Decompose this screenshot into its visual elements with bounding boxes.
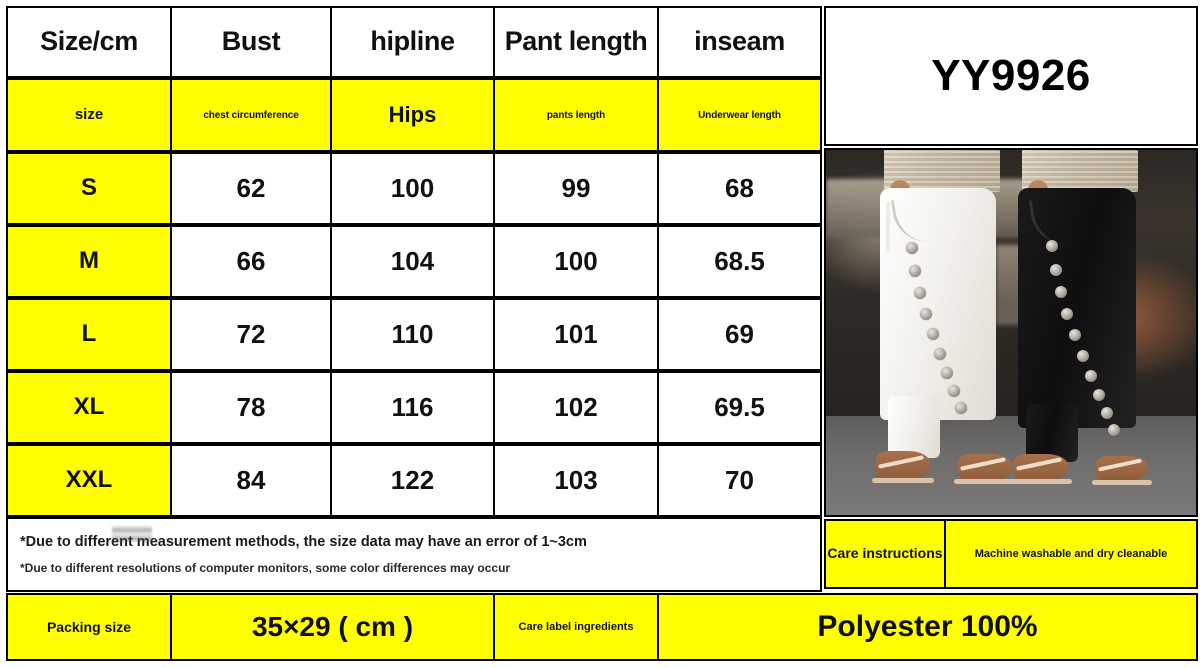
pants-button — [1108, 424, 1120, 436]
measurement-disclaimer: *Due to different measurement methods, t… — [6, 517, 822, 592]
cell-value: 100 — [554, 247, 597, 276]
pants-button — [1085, 370, 1097, 382]
table-row-pant-length: 101 — [493, 298, 659, 371]
table-row-size: XXL — [6, 444, 172, 517]
header-label: inseam — [694, 27, 785, 57]
cell-value: 66 — [237, 247, 266, 276]
pants-button — [906, 242, 918, 254]
pants-button — [948, 385, 960, 397]
subheader-label: size — [75, 107, 103, 124]
header-label: Size/cm — [40, 27, 138, 57]
cell-value: 99 — [562, 174, 591, 203]
cell-value: 78 — [237, 393, 266, 422]
care-label-ingredients-label: Care label ingredients — [493, 593, 659, 661]
table-row-bust: 72 — [170, 298, 332, 371]
model-white-pants — [870, 148, 1010, 515]
care-label-ingredients-value: Polyester 100% — [657, 593, 1198, 661]
header-cell-bust: Bust — [170, 6, 332, 78]
pants-drawstring-white — [886, 202, 890, 252]
ingredients-label-text: Care label ingredients — [519, 621, 634, 633]
product-code-cell: YY9926 — [824, 6, 1198, 146]
pants-button — [1077, 350, 1089, 362]
cell-value: 103 — [554, 466, 597, 495]
header-cell-inseam: inseam — [657, 6, 822, 78]
table-row-inseam: 68.5 — [657, 225, 822, 298]
pants-button — [927, 328, 939, 340]
header-cell-pant-length: Pant length — [493, 6, 659, 78]
pants-button — [1101, 407, 1113, 419]
pants-button — [914, 287, 926, 299]
cell-value: 100 — [391, 174, 434, 203]
pants-button — [1055, 286, 1067, 298]
pants-button — [1093, 389, 1105, 401]
sandal-sole — [872, 478, 934, 483]
cell-value: 110 — [392, 320, 434, 349]
pants-button — [934, 348, 946, 360]
cell-value: 72 — [237, 320, 266, 349]
cell-value: L — [82, 321, 97, 347]
cell-value: 104 — [391, 247, 434, 276]
table-row-size: XL — [6, 371, 172, 444]
product-photo — [824, 148, 1198, 517]
header-label: Bust — [222, 27, 280, 57]
pants-button — [1061, 308, 1073, 320]
table-row-pant-length: 100 — [493, 225, 659, 298]
packing-label-text: Packing size — [47, 619, 131, 635]
table-row-hipline: 116 — [330, 371, 495, 444]
pants-button — [941, 367, 953, 379]
care-value-text: Machine washable and dry cleanable — [975, 548, 1168, 560]
pants-button — [1046, 240, 1058, 252]
table-row-inseam: 68 — [657, 152, 822, 225]
cell-value: 69.5 — [714, 393, 765, 422]
subheader-label: Hips — [389, 103, 437, 127]
care-label-text: Care instructions — [827, 546, 942, 561]
subheader-cell-pant-length: pants length — [493, 78, 659, 152]
cell-value: 116 — [392, 393, 434, 422]
table-row-hipline: 100 — [330, 152, 495, 225]
cell-value: S — [81, 175, 97, 201]
table-row-size: M — [6, 225, 172, 298]
table-row-bust: 84 — [170, 444, 332, 517]
disclaimer-line-2: *Due to different resolutions of compute… — [20, 561, 810, 575]
pants-black — [1018, 188, 1136, 428]
table-row-pant-length: 99 — [493, 152, 659, 225]
table-row-size: S — [6, 152, 172, 225]
table-row-inseam: 70 — [657, 444, 822, 517]
subheader-label: Underwear length — [698, 110, 781, 121]
pants-button — [955, 402, 967, 414]
table-row-hipline: 122 — [330, 444, 495, 517]
cell-value: 84 — [237, 466, 266, 495]
packing-size-label: Packing size — [6, 593, 172, 661]
cell-value: 62 — [237, 174, 266, 203]
cell-value: XL — [74, 394, 105, 420]
model-black-pants — [1004, 148, 1152, 515]
pants-button — [1069, 329, 1081, 341]
ingredients-value-text: Polyester 100% — [817, 610, 1037, 644]
table-row-pant-length: 103 — [493, 444, 659, 517]
table-row-bust: 78 — [170, 371, 332, 444]
care-instructions-label: Care instructions — [824, 519, 946, 589]
pants-button-row-white — [906, 242, 920, 402]
header-label: Pant length — [505, 27, 648, 57]
header-cell-hipline: hipline — [330, 6, 495, 78]
size-chart-sheet: Size/cm Bust hipline Pant length inseam … — [0, 0, 1204, 668]
pants-button — [909, 265, 921, 277]
pants-pocket-white — [891, 196, 932, 247]
pants-leg-white — [888, 396, 940, 458]
table-row-bust: 66 — [170, 225, 332, 298]
header-cell-size: Size/cm — [6, 6, 172, 78]
pants-button — [1050, 264, 1062, 276]
subheader-cell-size: size — [6, 78, 172, 152]
subheader-cell-hipline: Hips — [330, 78, 495, 152]
cell-value: M — [79, 248, 99, 274]
cell-value: 101 — [554, 320, 597, 349]
table-row-hipline: 110 — [330, 298, 495, 371]
pants-button — [920, 308, 932, 320]
care-instructions-value: Machine washable and dry cleanable — [944, 519, 1198, 589]
subheader-label: chest circumference — [203, 110, 298, 121]
table-row-size: L — [6, 298, 172, 371]
cell-value: 70 — [725, 466, 754, 495]
cell-value: 102 — [554, 393, 597, 422]
subheader-label: pants length — [547, 110, 605, 121]
pants-button-row-black — [1046, 240, 1060, 408]
table-row-bust: 62 — [170, 152, 332, 225]
table-row-inseam: 69.5 — [657, 371, 822, 444]
packing-value-text: 35×29 ( cm ) — [252, 611, 413, 643]
table-row-inseam: 69 — [657, 298, 822, 371]
subheader-cell-inseam: Underwear length — [657, 78, 822, 152]
packing-size-value: 35×29 ( cm ) — [170, 593, 495, 661]
cell-value: 68.5 — [714, 247, 765, 276]
photo-scene — [826, 150, 1196, 515]
subheader-cell-bust: chest circumference — [170, 78, 332, 152]
cell-value: 68 — [725, 174, 754, 203]
cell-value: 122 — [391, 466, 434, 495]
header-label: hipline — [370, 27, 454, 57]
table-row-pant-length: 102 — [493, 371, 659, 444]
cell-value: 69 — [725, 320, 754, 349]
product-code: YY9926 — [931, 51, 1091, 101]
disclaimer-line-1: *Due to different measurement methods, t… — [20, 534, 810, 550]
pants-white — [880, 188, 996, 420]
table-row-hipline: 104 — [330, 225, 495, 298]
cell-value: XXL — [66, 467, 113, 493]
sandal-sole — [1092, 480, 1152, 485]
sandal-sole — [1010, 479, 1072, 484]
